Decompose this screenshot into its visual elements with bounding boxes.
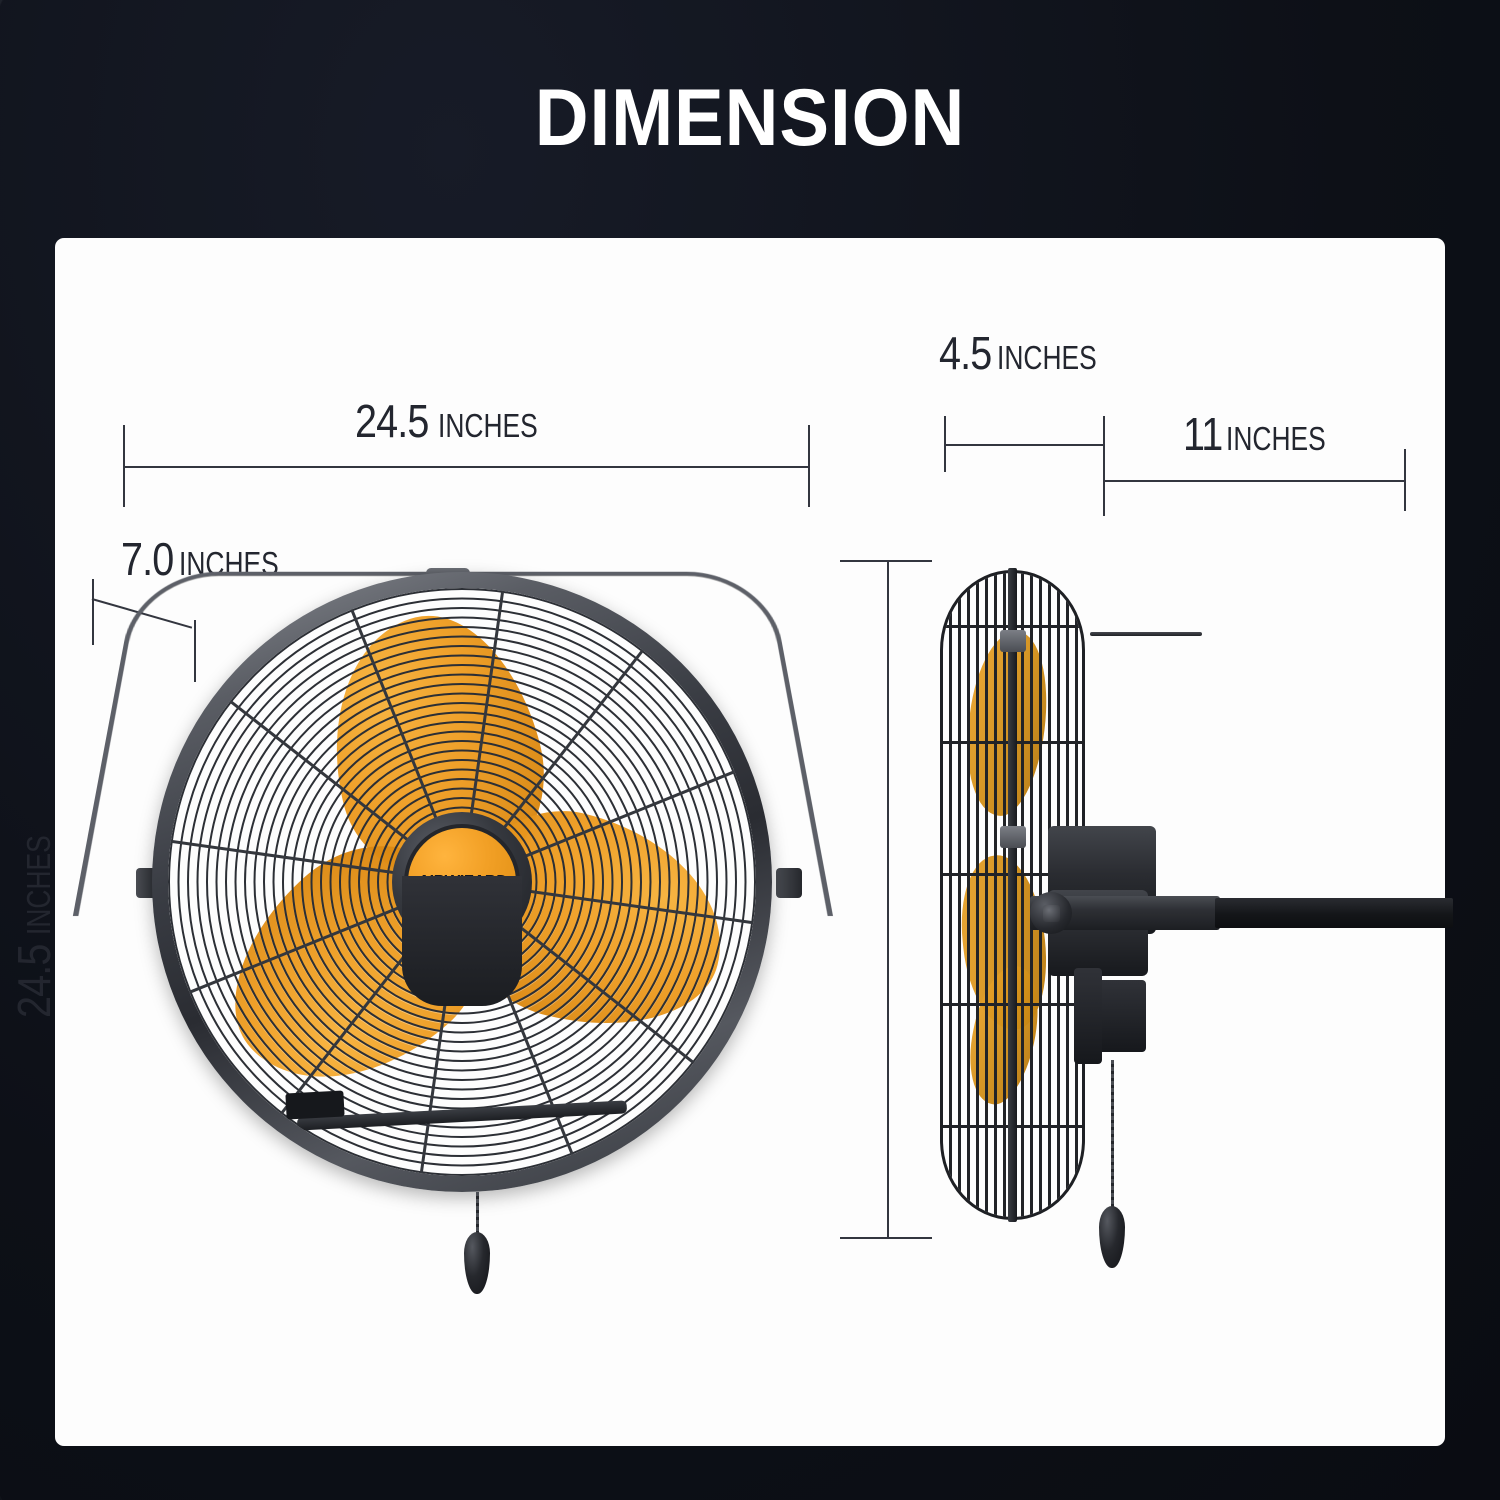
front-pull-chain-knob[interactable] bbox=[464, 1232, 490, 1294]
side-cage-clip-mid bbox=[1000, 826, 1026, 848]
front-width-line bbox=[123, 466, 809, 468]
front-width-label: 24.5INCHES bbox=[355, 398, 562, 444]
bracket-length-line bbox=[1103, 480, 1405, 482]
dimension-card: 24.5INCHES 7.0INCHES 4.5INCHES 11INCHES … bbox=[55, 238, 1445, 1446]
side-depth-unit: INCHES bbox=[997, 341, 1097, 374]
motor-block bbox=[285, 1091, 344, 1120]
side-depth-value: 4.5 bbox=[939, 330, 991, 376]
side-cage-center-post bbox=[1008, 568, 1017, 1222]
cage-inner-area: AIRWIZARD bbox=[168, 588, 756, 1176]
side-depth-line bbox=[944, 444, 1104, 446]
front-width-tick-right bbox=[808, 425, 810, 507]
side-cage-wire bbox=[1003, 573, 1006, 1217]
wall-bracket-arm-outer bbox=[1215, 898, 1453, 928]
side-height-value: 24.5 bbox=[11, 944, 57, 1018]
side-depth-tick-right bbox=[1103, 416, 1105, 516]
side-height-unit: INCHES bbox=[22, 836, 55, 936]
motor-shroud bbox=[402, 876, 522, 1006]
bracket-length-label: 11INCHES bbox=[1183, 411, 1350, 457]
bracket-bolt bbox=[1043, 905, 1060, 922]
side-cage-wire bbox=[967, 573, 970, 1217]
side-height-label: 24.5INCHES bbox=[11, 811, 57, 1018]
side-height-line bbox=[887, 560, 889, 1238]
front-view-fan: AIRWIZARD bbox=[90, 520, 820, 1280]
page-title: DIMENSION bbox=[60, 72, 1440, 165]
side-pull-chain-knob[interactable] bbox=[1099, 1206, 1125, 1268]
side-control-stem bbox=[1074, 968, 1102, 1064]
side-cage-wire bbox=[985, 573, 988, 1217]
side-cage-wire bbox=[994, 573, 997, 1217]
side-cage-wire bbox=[1030, 573, 1033, 1217]
side-cage-wire bbox=[976, 573, 979, 1217]
bracket-length-value: 11 bbox=[1183, 411, 1222, 457]
side-height-tick-bottom bbox=[840, 1237, 932, 1239]
front-width-value: 24.5 bbox=[355, 398, 429, 444]
side-height-tick-top bbox=[840, 560, 932, 562]
front-cage: AIRWIZARD bbox=[152, 572, 772, 1192]
side-cage-wire bbox=[1021, 573, 1024, 1217]
side-cage-wire bbox=[949, 573, 952, 1217]
side-depth-label: 4.5INCHES bbox=[939, 330, 1122, 376]
side-pull-chain[interactable] bbox=[1111, 1060, 1114, 1212]
cage-right-knob bbox=[776, 868, 802, 898]
side-handle-rod bbox=[1090, 632, 1202, 636]
side-view-fan bbox=[930, 560, 1430, 1280]
bracket-length-unit: INCHES bbox=[1226, 422, 1326, 455]
side-cage-clip-top bbox=[1000, 630, 1026, 652]
side-cage-wire bbox=[958, 573, 961, 1217]
front-width-unit: INCHES bbox=[438, 409, 538, 442]
bracket-length-tick-right bbox=[1404, 449, 1406, 511]
